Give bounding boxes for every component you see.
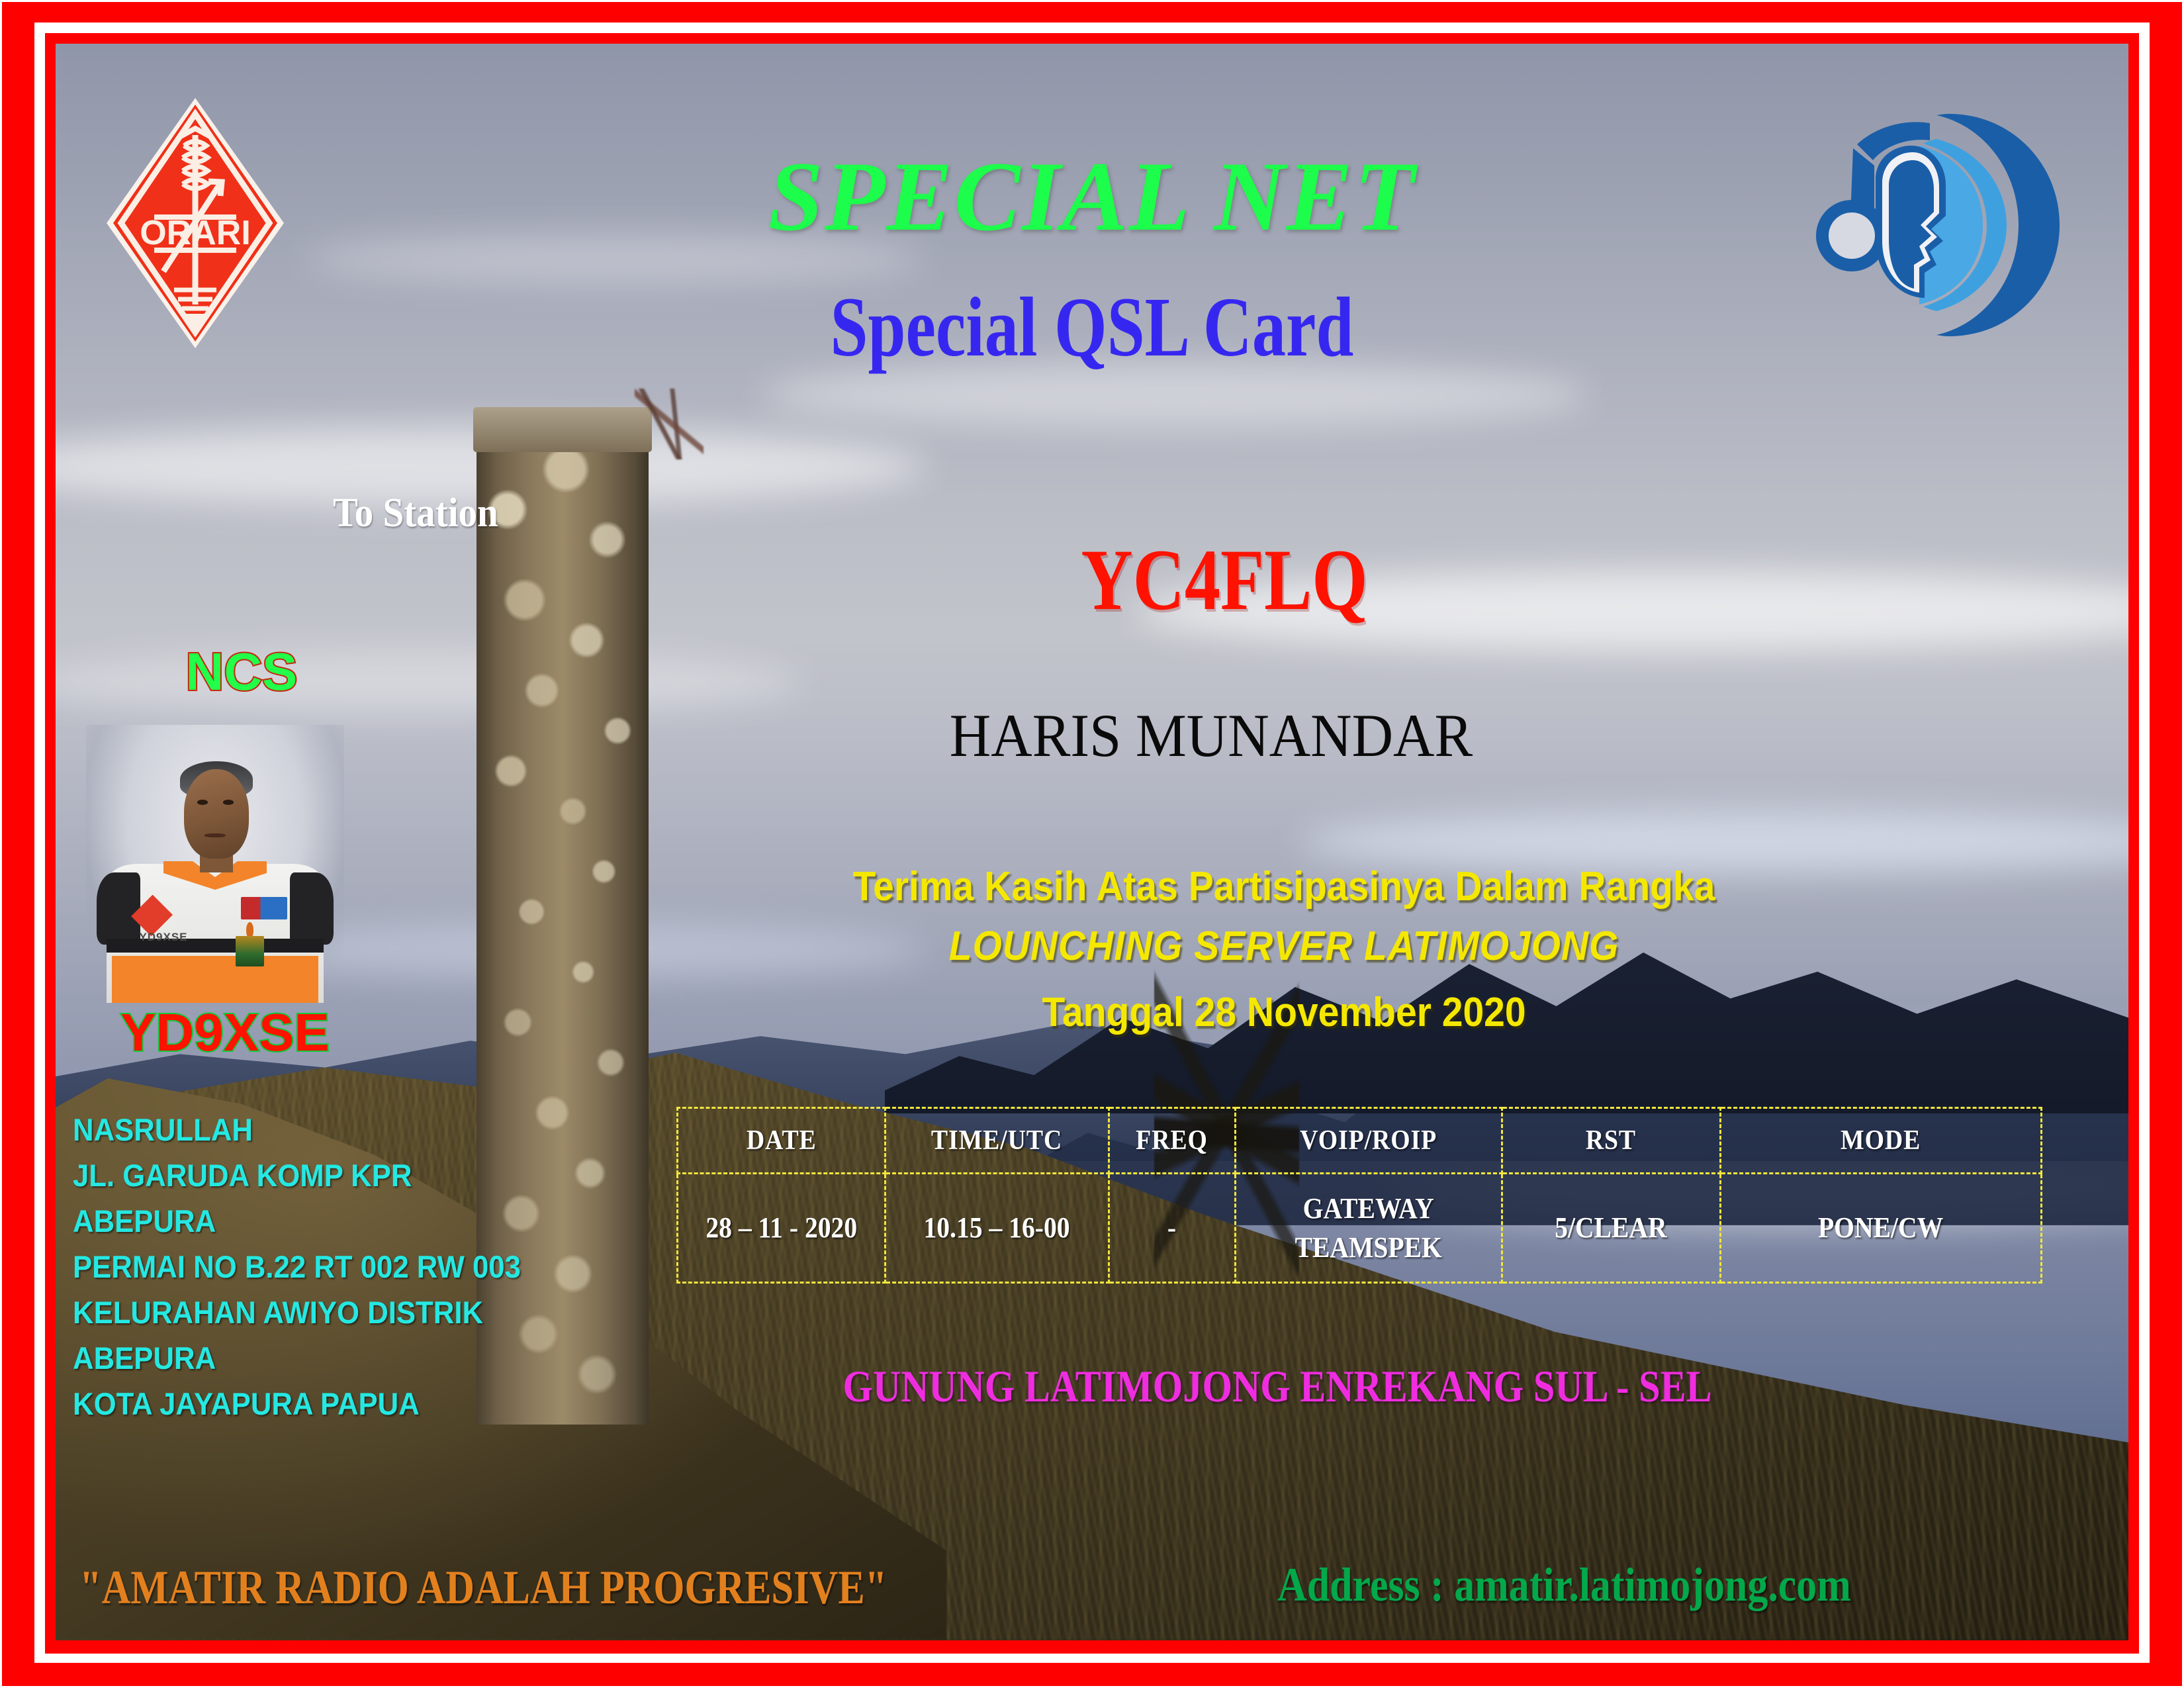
- event-line-date: Tanggal 28 November 2020: [785, 981, 1784, 1045]
- qsl-card: ORARI SPECIAL NET Special QSL Card To St…: [0, 0, 2184, 1688]
- column-header-mode: MODE: [1737, 1108, 2026, 1174]
- cell-time: 10.15 – 16-00: [896, 1174, 1097, 1283]
- operator-name: HARIS MUNANDAR: [732, 705, 1690, 766]
- mailing-address: NASRULLAH JL. GARUDA KOMP KPR ABEPURA PE…: [73, 1107, 521, 1427]
- column-header-freq: FREQ: [1115, 1108, 1229, 1174]
- ncs-operator-photo: YD9XSE: [86, 725, 344, 1003]
- column-header-rst: RST: [1513, 1108, 1709, 1174]
- portrait-shirt-callsign: YD9XSE: [122, 931, 205, 944]
- portrait-id-card: [236, 936, 264, 966]
- address-line: JL. GARUDA KOMP KPR: [73, 1152, 521, 1198]
- page-subtitle: Special QSL Card: [218, 285, 1966, 369]
- event-line-title: LOUNCHING SERVER LATIMOJONG: [785, 913, 1784, 980]
- column-header-voip: VOIP/ROIP: [1248, 1108, 1488, 1174]
- cell-mode: PONE/CW: [1737, 1174, 2026, 1283]
- address-line: KOTA JAYAPURA PAPUA: [73, 1381, 521, 1427]
- address-line: PERMAI NO B.22 RT 002 RW 003: [73, 1244, 521, 1289]
- ncs-callsign: YD9XSE: [79, 1006, 371, 1059]
- cell-rst: 5/CLEAR: [1513, 1174, 1709, 1283]
- pillar-grass-wisp: [635, 389, 704, 459]
- cell-voip: GATEWAY TEAMSPEK: [1248, 1174, 1488, 1283]
- address-line: KELURAHAN AWIYO DISTRIK: [73, 1289, 521, 1335]
- table-header-row: DATE TIME/UTC FREQ VOIP/ROIP RST MODE: [678, 1108, 2042, 1174]
- cell-freq: -: [1115, 1174, 1229, 1283]
- station-callsign: YC4FLQ: [915, 536, 1534, 624]
- footer-web-address: Address : amatir.latimojong.com: [1277, 1561, 1851, 1609]
- cell-voip-line1: GATEWAY: [1250, 1189, 1488, 1228]
- column-header-time: TIME/UTC: [896, 1108, 1097, 1174]
- portrait-eye-right: [223, 800, 234, 805]
- footer-motto: "AMATIR RADIO ADALAH PROGRESIVE": [79, 1564, 887, 1611]
- address-line: ABEPURA: [73, 1198, 521, 1244]
- location-caption: GUNUNG LATIMOJONG ENREKANG SUL - SEL: [737, 1364, 1818, 1409]
- pillar-cap: [473, 407, 652, 452]
- portrait-face: [184, 769, 249, 858]
- cell-voip-line2: TEAMSPEK: [1250, 1228, 1488, 1267]
- column-header-date: DATE: [688, 1108, 874, 1174]
- portrait-shirt-hem: [112, 956, 318, 1003]
- page-title: SPECIAL NET: [0, 147, 2184, 246]
- portrait-shoulder-right: [290, 872, 334, 945]
- portrait-mouth: [205, 833, 225, 837]
- event-text-block: Terima Kasih Atas Partisipasinya Dalam R…: [741, 861, 1827, 1045]
- to-station-label: To Station: [333, 490, 498, 537]
- address-line: ABEPURA: [73, 1335, 521, 1381]
- event-line-thanks: Terima Kasih Atas Partisipasinya Dalam R…: [785, 861, 1784, 913]
- cell-date: 28 – 11 - 2020: [688, 1174, 874, 1283]
- address-line: NASRULLAH: [73, 1107, 521, 1152]
- portrait-eye-left: [197, 800, 208, 805]
- ncs-label: NCS: [142, 645, 341, 698]
- portrait-chest-patch: [241, 897, 287, 919]
- qso-log-table: DATE TIME/UTC FREQ VOIP/ROIP RST MODE 28…: [676, 1107, 2042, 1279]
- table-row: 28 – 11 - 2020 10.15 – 16-00 - GATEWAY T…: [678, 1174, 2042, 1283]
